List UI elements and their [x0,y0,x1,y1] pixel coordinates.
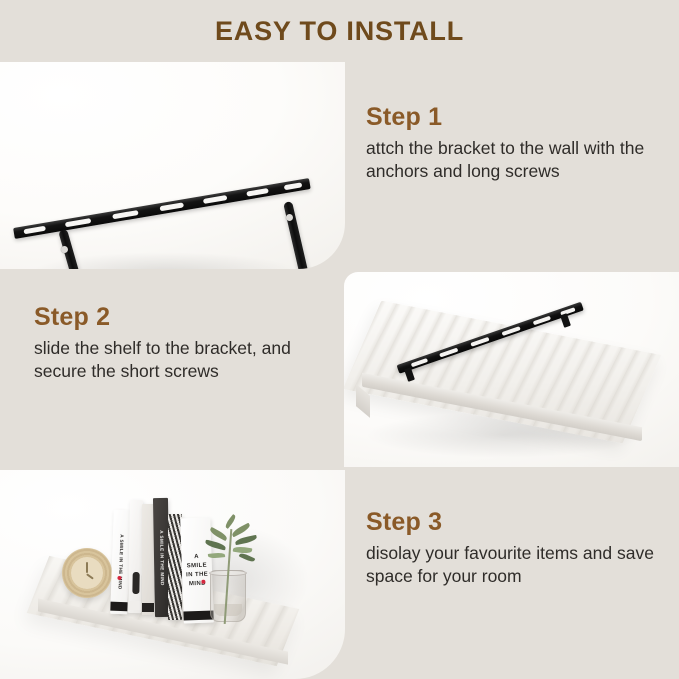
clock-hand-minute [86,573,93,579]
bracket-slot [284,182,303,190]
plant-leaf [239,552,256,564]
step-3-image-panel: A SMILE IN THE MIND A SMILE IN THE MIND … [0,470,345,679]
bracket-slot [23,226,46,235]
step-2-text: Step 2 slide the shelf to the bracket, a… [34,303,314,384]
plant-leaf [235,535,258,545]
bracket-slot [246,188,269,197]
shelf-with-bracket-illustration [344,272,679,467]
bracket-screw-hole-right [286,214,293,221]
infographic-page: EASY TO INSTALL Step 1 at [0,0,679,679]
page-title: EASY TO INSTALL [0,16,679,47]
vase-water-line [214,604,242,616]
bracket-slot [160,202,184,211]
step-3-description: disolay your favourite items and save sp… [366,542,666,589]
clock-hand-hour [86,562,88,573]
step-1-description: attch the bracket to the wall with the a… [366,137,662,184]
step-2-description: slide the shelf to the bracket, and secu… [34,337,314,384]
book-title-text: A SMILE IN THE MIND [117,534,124,590]
step-3-text: Step 3 disolay your favourite items and … [366,508,666,589]
plant-leaf [209,527,229,541]
book-foot-band [110,602,127,612]
book-title-text: A SMILE IN THE MIND [183,552,210,589]
book-title-text: A SMILE IN THE MIND [159,530,165,586]
step-2-image-panel [344,272,679,467]
clock-icon [62,548,112,598]
bracket-illustration [0,62,345,269]
clock-face [71,557,103,589]
plant-leaf [224,514,237,529]
bracket-rod-right [283,201,310,269]
step-1-heading: Step 1 [366,103,662,132]
step-3-heading: Step 3 [366,508,666,537]
bracket-screw-hole-left [61,246,68,253]
book-spine [128,500,143,613]
bracket-slot [65,218,91,227]
book-foot-band [128,601,141,610]
bracket-tab-right [560,313,571,328]
book-spine [142,504,154,615]
book-cover-front: A SMILE IN THE MIND [180,518,214,624]
step-1-image-panel [0,62,345,269]
book-foot-band [142,603,154,612]
glass-vase [210,570,246,622]
styled-shelf-illustration: A SMILE IN THE MIND A SMILE IN THE MIND … [0,470,345,679]
book-accent-block [132,572,139,594]
step-1-text: Step 1 attch the bracket to the wall wit… [366,103,662,184]
bracket-slot [203,195,227,204]
bracket-main-bar [13,178,311,239]
step-2-heading: Step 2 [34,303,314,332]
bracket-slot [112,210,138,219]
plant-leaf [231,523,251,538]
bracket-slot [533,315,551,325]
book-accent-dot [117,576,121,580]
